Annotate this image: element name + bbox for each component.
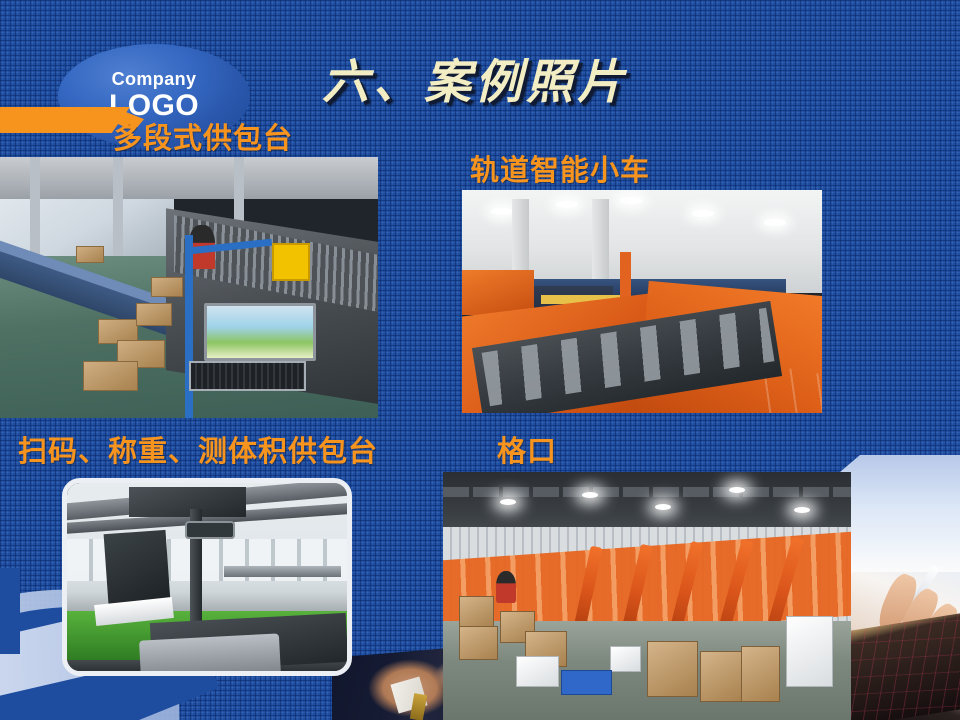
photo-sorting-chutes[interactable]: [443, 472, 851, 720]
photo-scan-weigh-measure-station[interactable]: [62, 478, 352, 676]
photo-weighing-table: [139, 634, 281, 671]
photo-keyboard: [189, 361, 306, 391]
caption-photo-2: 轨道智能小车: [470, 147, 650, 189]
photo-parcel-white: [786, 616, 833, 687]
photo-roof-truss: [443, 487, 851, 497]
photo-parcel: [151, 277, 183, 297]
photo-parcel-white: [516, 656, 559, 688]
photo-monitor-screen: [204, 303, 316, 361]
photo-parcel: [136, 303, 172, 326]
photo-ceiling-lamp: [794, 507, 810, 513]
orange-accent-bar: [0, 107, 130, 133]
photo-worker: [496, 571, 516, 603]
photo-parcel: [83, 361, 138, 392]
presentation-slide: Company LOGO 六、案例照片 多段式供包台 轨道智能小车 扫码、称重、…: [0, 0, 960, 720]
photo-sky-area: [832, 455, 960, 572]
photo-duct: [129, 487, 247, 517]
photo-ceiling-lamp: [729, 487, 745, 493]
photo-display-panel: [104, 530, 170, 606]
photo-parcel: [700, 651, 743, 703]
photo-ceiling: [0, 157, 378, 199]
photo-multi-segment-feeding-station[interactable]: [0, 157, 378, 418]
logo-line-company: Company: [112, 70, 197, 89]
photo-rail-guided-smart-car[interactable]: [462, 190, 822, 413]
left-edge-accent: [0, 568, 20, 654]
photo-ceiling-lamp: [582, 492, 598, 498]
photo-parcel: [459, 626, 498, 660]
photo-ceiling-lamp: [556, 201, 578, 208]
photo-warning-sign: [272, 243, 310, 281]
slide-title: 六、案例照片: [322, 43, 628, 112]
caption-photo-4: 格口: [497, 428, 557, 470]
caption-photo-3: 扫码、称重、测体积供包台: [18, 428, 378, 470]
photo-parcel: [647, 641, 698, 698]
photo-parcel: [459, 596, 494, 628]
photo-blue-pallet: [561, 670, 612, 694]
caption-photo-1: 多段式供包台: [113, 115, 293, 157]
photo-parcel-white: [610, 646, 641, 673]
photo-ceiling-lamp: [491, 208, 513, 215]
photo-volume-scanner: [185, 521, 235, 540]
photo-gantry-frame: [224, 566, 342, 577]
photo-parcel: [741, 646, 780, 703]
background-photo-hands-typing: [832, 455, 960, 720]
photo-parcel: [76, 246, 104, 264]
photo-inner: [67, 483, 347, 671]
photo-ceiling-lamp: [620, 197, 642, 204]
